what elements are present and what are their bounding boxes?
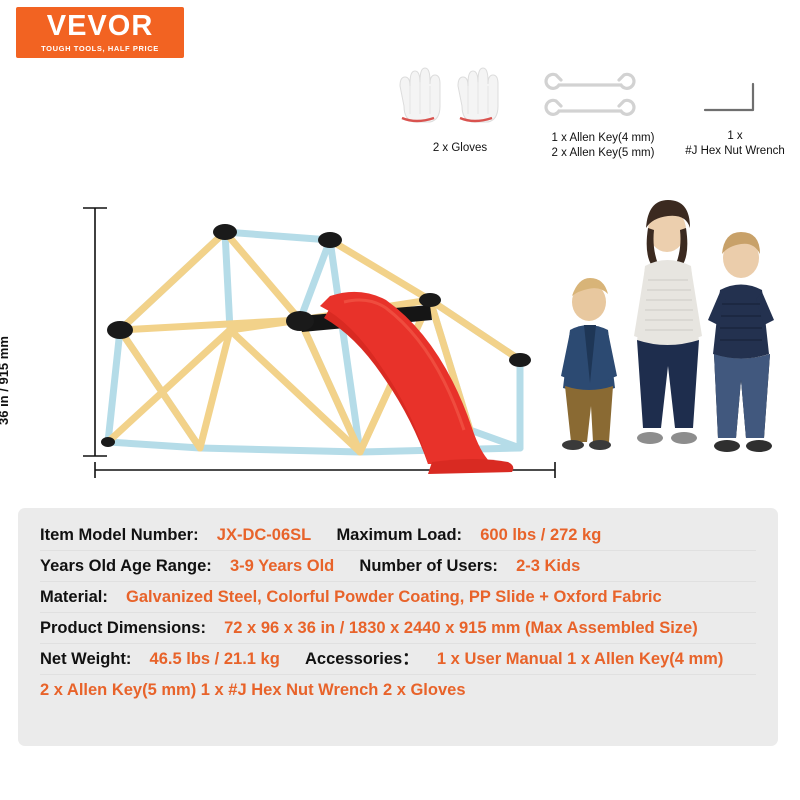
hex-nut-wrench-icon [675, 72, 795, 124]
children-group [561, 200, 774, 452]
accessory-allen-caption-1: 1 x Allen Key(4 mm) [528, 131, 678, 146]
accessory-allen-caption-2: 2 x Allen Key(5 mm) [528, 146, 678, 161]
spec-label: Item Model Number: [40, 526, 199, 544]
spec-row: Years Old Age Range: 3-9 Years Old Numbe… [40, 551, 756, 582]
spec-panel: Item Model Number: JX-DC-06SL Maximum Lo… [18, 508, 778, 746]
spec-label: Number of Users: [359, 557, 497, 575]
child-boy [708, 232, 774, 452]
accessory-gloves-caption: 2 x Gloves [380, 141, 540, 156]
spec-row: Product Dimensions: 72 x 96 x 36 in / 18… [40, 613, 756, 644]
spec-label: Net Weight: [40, 650, 131, 668]
accessories-strip: 2 x Gloves 1 x Allen Key(4 mm) 2 x Allen… [380, 56, 790, 171]
spec-value: 1 x User Manual 1 x Allen Key(4 mm) [437, 650, 723, 668]
spec-value: 600 lbs / 272 kg [480, 526, 601, 544]
accessory-hex-nut-wrench: 1 x #J Hex Nut Wrench [670, 72, 800, 159]
spec-value: 46.5 lbs / 21.1 kg [150, 650, 280, 668]
dimension-height-label: 36 in / 915 mm [0, 336, 11, 425]
spec-value: Galvanized Steel, Colorful Powder Coatin… [126, 588, 662, 606]
brand-tagline: TOUGH TOOLS, HALF PRICE [41, 44, 159, 53]
spec-label: Maximum Load: [336, 526, 462, 544]
spec-label: Material: [40, 588, 108, 606]
vevor-logo: VEVOR TOUGH TOOLS, HALF PRICE [16, 7, 184, 58]
spec-label: Product Dimensions: [40, 619, 206, 637]
accessory-wrench-caption-2: #J Hex Nut Wrench [670, 144, 800, 159]
spec-row: Net Weight: 46.5 lbs / 21.1 kg Accessori… [40, 644, 756, 675]
allen-key-icon [543, 68, 663, 126]
product-photo: 36 in / 915 mm 96 in / 2440 mm [0, 180, 800, 490]
spec-row: Item Model Number: JX-DC-06SL Maximum Lo… [40, 520, 756, 551]
child-girl [634, 200, 702, 444]
spec-label: Years Old Age Range: [40, 557, 212, 575]
spec-value: 2 x Allen Key(5 mm) 1 x #J Hex Nut Wrenc… [40, 681, 466, 699]
accessory-gloves: 2 x Gloves [380, 56, 540, 156]
brand-name: VEVOR [47, 12, 154, 41]
product-illustration [0, 180, 800, 490]
spec-row: Material: Galvanized Steel, Colorful Pow… [40, 582, 756, 613]
accessory-wrench-caption-1: 1 x [670, 129, 800, 144]
spec-label: Accessories： [305, 650, 419, 668]
spec-row: 2 x Allen Key(5 mm) 1 x #J Hex Nut Wrenc… [40, 675, 756, 705]
spec-value: 72 x 96 x 36 in / 1830 x 2440 x 915 mm (… [224, 619, 698, 637]
accessory-allen-keys: 1 x Allen Key(4 mm) 2 x Allen Key(5 mm) [528, 68, 678, 161]
spec-value: 2-3 Kids [516, 557, 580, 575]
spec-value: JX-DC-06SL [217, 526, 311, 544]
child-toddler [561, 278, 617, 450]
spec-value: 3-9 Years Old [230, 557, 334, 575]
gloves-icon [380, 56, 540, 136]
